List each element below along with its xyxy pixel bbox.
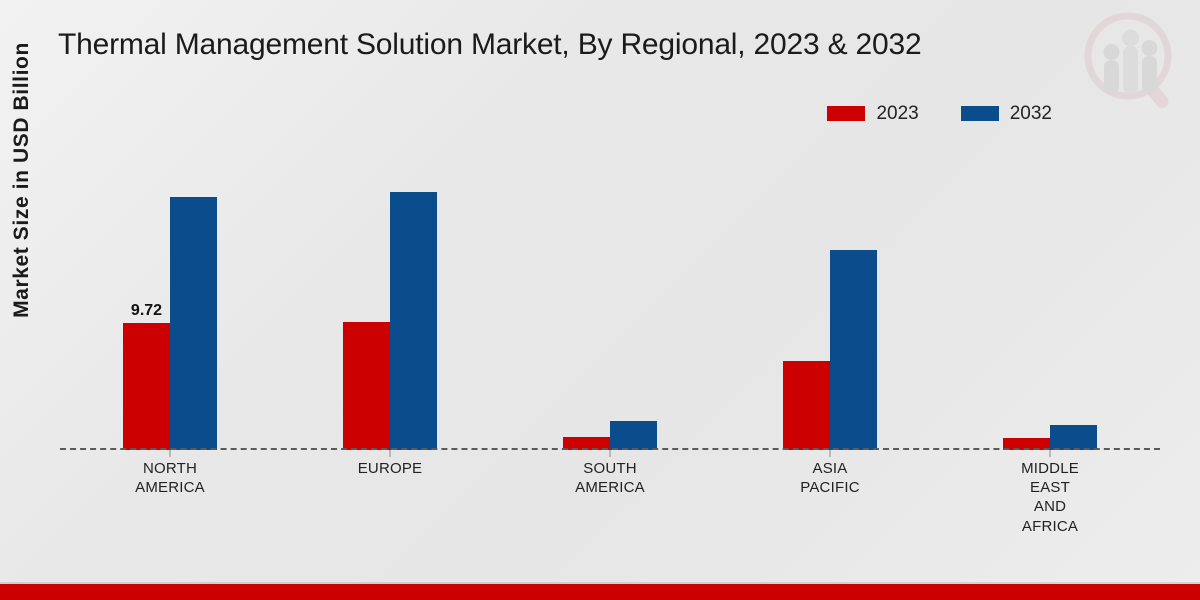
x-axis-category-label: ASIA PACIFIC	[800, 459, 859, 497]
bar-pair	[343, 150, 437, 450]
bar-group: MIDDLE EAST AND AFRICA	[940, 150, 1160, 450]
plot-area: 9.72NORTH AMERICAEUROPESOUTH AMERICAASIA…	[60, 150, 1160, 450]
bar-value-label: 9.72	[131, 302, 162, 320]
bar-pair	[783, 150, 877, 450]
x-axis-tick	[830, 450, 831, 457]
bar-groups: 9.72NORTH AMERICAEUROPESOUTH AMERICAASIA…	[60, 150, 1160, 450]
x-axis-category-label: EUROPE	[358, 459, 423, 478]
y-axis-title: Market Size in USD Billion	[10, 10, 34, 350]
bar-2032[interactable]	[830, 250, 877, 450]
chart-legend: 2023 2032	[827, 104, 1052, 123]
x-axis-baseline	[60, 448, 1160, 450]
legend-swatch-icon	[827, 106, 865, 121]
x-axis-category-label: NORTH AMERICA	[135, 459, 205, 497]
x-axis-category-label: SOUTH AMERICA	[575, 459, 645, 497]
x-axis-tick	[1050, 450, 1051, 457]
watermark-logo	[1076, 8, 1186, 113]
legend-item-2032[interactable]: 2032	[961, 104, 1052, 123]
bar-2023[interactable]	[343, 322, 390, 450]
bar-group: EUROPE	[280, 150, 500, 450]
bar-pair: 9.72	[123, 150, 217, 450]
legend-label: 2032	[1010, 104, 1052, 123]
legend-swatch-icon	[961, 106, 999, 121]
bar-2032[interactable]	[1050, 425, 1097, 450]
x-axis-tick	[170, 450, 171, 457]
x-axis-tick	[390, 450, 391, 457]
bar-2032[interactable]	[390, 192, 437, 450]
legend-item-2023[interactable]: 2023	[827, 104, 918, 123]
bar-group: 9.72NORTH AMERICA	[60, 150, 280, 450]
bar-2023[interactable]: 9.72	[123, 323, 170, 450]
x-axis-tick	[610, 450, 611, 457]
legend-label: 2023	[876, 104, 918, 123]
chart-canvas: Thermal Management Solution Market, By R…	[0, 0, 1200, 600]
bar-2032[interactable]	[610, 421, 657, 450]
bar-group: ASIA PACIFIC	[720, 150, 940, 450]
page-title: Thermal Management Solution Market, By R…	[58, 28, 922, 62]
bar-2023[interactable]	[783, 361, 830, 450]
bottom-accent-strip	[0, 584, 1200, 600]
x-axis-category-label: MIDDLE EAST AND AFRICA	[1021, 459, 1079, 536]
bar-pair	[563, 150, 657, 450]
bar-pair	[1003, 150, 1097, 450]
bar-group: SOUTH AMERICA	[500, 150, 720, 450]
bar-2032[interactable]	[170, 197, 217, 450]
